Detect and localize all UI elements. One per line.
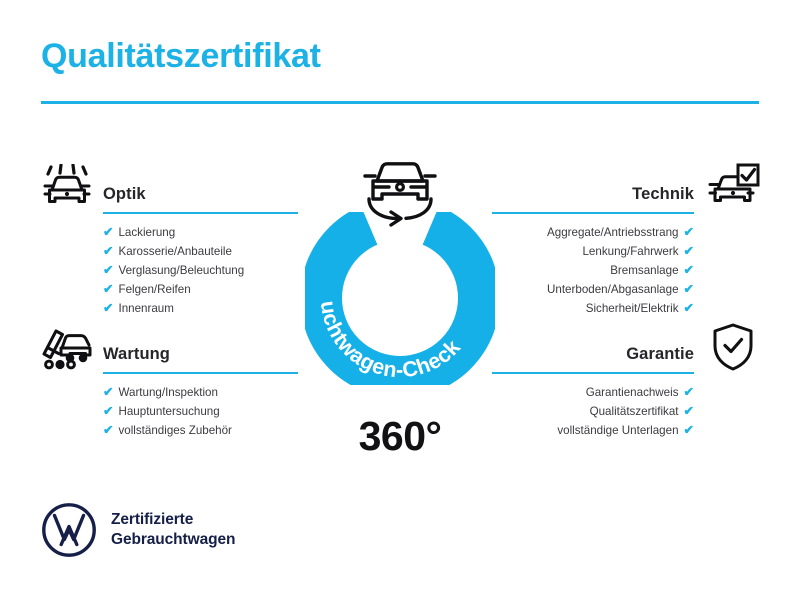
section-header: Technik <box>492 162 764 214</box>
check-icon: ✔ <box>103 225 113 239</box>
list-item: Aggregate/Antriebsstrang✔ <box>492 223 694 242</box>
list-item: ✔Innenraum <box>103 299 308 318</box>
list-item: Bremsanlage✔ <box>492 261 694 280</box>
car-shine-icon <box>36 162 98 212</box>
list-item-label: Felgen/Reifen <box>118 283 190 296</box>
check-icon: ✔ <box>103 423 113 437</box>
section-garantie: Garantie Garantienachweis✔ Qualitätszert… <box>492 322 764 440</box>
list-item-label: Lackierung <box>118 226 175 239</box>
list-item-label: Garantienachweis <box>586 386 679 399</box>
list-item-label: Wartung/Inspektion <box>118 386 217 399</box>
service-book-pen-car-icon <box>36 322 98 372</box>
list-item: Sicherheit/Elektrik✔ <box>492 299 694 318</box>
check-icon: ✔ <box>684 301 694 315</box>
list-item: ✔Wartung/Inspektion <box>103 383 308 402</box>
list-item-label: Bremsanlage <box>610 264 678 277</box>
footer-text: Zertifizierte Gebrauchtwagen <box>111 510 235 550</box>
section-divider <box>492 372 694 374</box>
list-item: Qualitätszertifikat✔ <box>492 402 694 421</box>
check-icon: ✔ <box>103 385 113 399</box>
check-icon: ✔ <box>684 244 694 258</box>
checklist-technik: Aggregate/Antriebsstrang✔ Lenkung/Fahrwe… <box>492 223 764 318</box>
list-item-label: Aggregate/Antriebsstrang <box>547 226 678 239</box>
section-technik: Technik Aggregate/Antriebsstrang✔ Lenkun… <box>492 162 764 318</box>
car-checkbox-icon <box>702 162 764 212</box>
section-title: Wartung <box>103 345 170 364</box>
list-item: ✔Verglasung/Beleuchtung <box>103 261 308 280</box>
check-icon: ✔ <box>103 263 113 277</box>
list-item: ✔Hauptuntersuchung <box>103 402 308 421</box>
checklist-garantie: Garantienachweis✔ Qualitätszertifikat✔ v… <box>492 383 764 440</box>
section-title: Garantie <box>626 345 694 364</box>
check-icon: ✔ <box>684 385 694 399</box>
badge-360-check: Gebrauchtwagen-Check 360° <box>299 155 501 385</box>
section-header: Garantie <box>492 322 764 374</box>
section-divider <box>103 212 298 214</box>
page-title: Qualitätszertifikat <box>41 38 321 75</box>
badge-center-label: 360° <box>299 413 501 460</box>
section-wartung: Wartung ✔Wartung/Inspektion ✔Hauptunters… <box>36 322 308 440</box>
section-title: Technik <box>632 185 694 204</box>
checklist-optik: ✔Lackierung ✔Karosserie/Anbauteile ✔Verg… <box>36 223 308 318</box>
footer-line-1: Zertifizierte <box>111 510 235 530</box>
list-item-label: Unterboden/Abgasanlage <box>547 283 679 296</box>
list-item-label: Qualitätszertifikat <box>590 405 679 418</box>
list-item-label: vollständige Unterlagen <box>557 424 678 437</box>
section-header: Wartung <box>36 322 308 374</box>
list-item-label: Karosserie/Anbauteile <box>118 245 231 258</box>
vw-footer: Zertifizierte Gebrauchtwagen <box>41 502 235 558</box>
section-optik: Optik ✔Lackierung ✔Karosserie/Anbauteile… <box>36 162 308 318</box>
section-header: Optik <box>36 162 308 214</box>
list-item-label: Innenraum <box>118 302 173 315</box>
check-icon: ✔ <box>684 404 694 418</box>
section-divider <box>492 212 694 214</box>
check-icon: ✔ <box>684 423 694 437</box>
title-divider <box>41 101 759 104</box>
check-icon: ✔ <box>103 301 113 315</box>
list-item: vollständige Unterlagen✔ <box>492 421 694 440</box>
list-item-label: Hauptuntersuchung <box>118 405 219 418</box>
list-item: Unterboden/Abgasanlage✔ <box>492 280 694 299</box>
checklist-wartung: ✔Wartung/Inspektion ✔Hauptuntersuchung ✔… <box>36 383 308 440</box>
check-icon: ✔ <box>103 404 113 418</box>
list-item: ✔vollständiges Zubehör <box>103 421 308 440</box>
vw-roundel-logo <box>41 502 97 558</box>
list-item-label: vollständiges Zubehör <box>118 424 231 437</box>
section-title: Optik <box>103 185 146 204</box>
list-item: Garantienachweis✔ <box>492 383 694 402</box>
check-icon: ✔ <box>103 244 113 258</box>
list-item-label: Lenkung/Fahrwerk <box>582 245 678 258</box>
certificate-page: Qualitätszertifikat <box>0 0 800 600</box>
list-item: ✔Felgen/Reifen <box>103 280 308 299</box>
list-item: Lenkung/Fahrwerk✔ <box>492 242 694 261</box>
badge-ring: Gebrauchtwagen-Check <box>299 212 501 385</box>
check-icon: ✔ <box>684 263 694 277</box>
footer-line-2: Gebrauchtwagen <box>111 530 235 550</box>
list-item-label: Verglasung/Beleuchtung <box>118 264 244 277</box>
list-item: ✔Karosserie/Anbauteile <box>103 242 308 261</box>
check-icon: ✔ <box>684 225 694 239</box>
check-icon: ✔ <box>684 282 694 296</box>
list-item: ✔Lackierung <box>103 223 308 242</box>
list-item-label: Sicherheit/Elektrik <box>586 302 679 315</box>
shield-check-icon <box>702 322 764 372</box>
section-divider <box>103 372 298 374</box>
check-icon: ✔ <box>103 282 113 296</box>
